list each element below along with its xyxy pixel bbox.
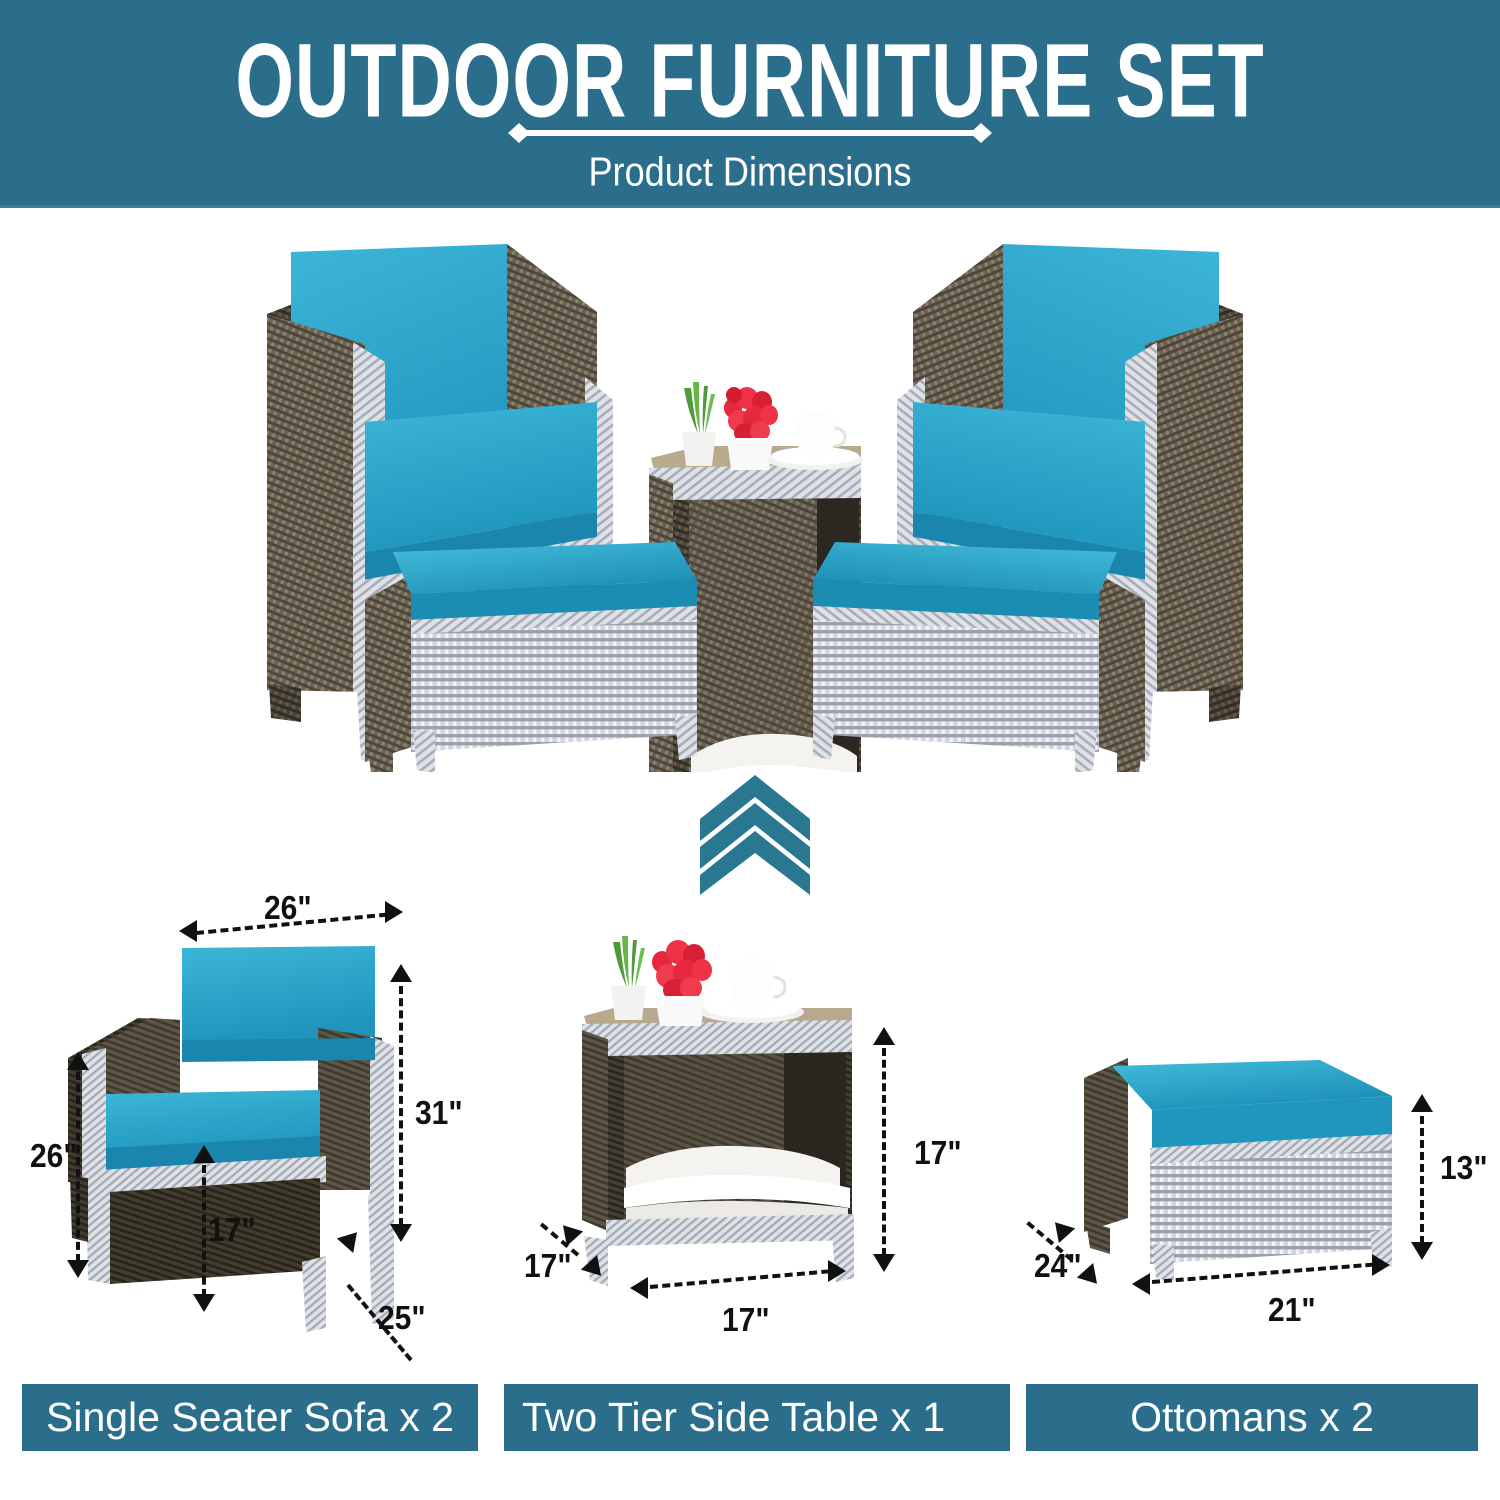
ottoman-line-image xyxy=(1000,1030,1490,1340)
spec-panel-ottoman: 13" 24" 21" xyxy=(1000,1030,1490,1340)
dim-arrow-sofa-width-left xyxy=(179,920,197,942)
hero-ottoman-left xyxy=(365,542,697,772)
double-diamond-rule-icon xyxy=(505,122,995,144)
dim-line-sofa-back-height xyxy=(76,1072,80,1262)
dim-line-table-height xyxy=(882,1048,886,1256)
dim-arrow-ottoman-width-left xyxy=(1132,1273,1150,1295)
dim-arrow-table-width-right xyxy=(828,1260,846,1282)
hero-ottoman-right xyxy=(813,542,1145,772)
dim-arrow-sofa-height-bottom xyxy=(390,1224,412,1242)
dim-label-ottoman-height: 13" xyxy=(1440,1150,1488,1188)
caption-single-seater-sofa: Single Seater Sofa x 2 xyxy=(22,1384,478,1451)
dim-label-ottoman-width: 21" xyxy=(1268,1292,1316,1330)
dim-label-sofa-back-height: 26" xyxy=(30,1138,78,1176)
dim-label-table-width: 17" xyxy=(722,1302,770,1340)
dim-arrow-sofa-seat-bottom xyxy=(193,1294,215,1312)
caption-text: Ottomans x 2 xyxy=(1026,1394,1478,1441)
dim-line-ottoman-height xyxy=(1420,1116,1424,1244)
dim-arrow-ottoman-height-bottom xyxy=(1411,1242,1433,1260)
dim-arrow-sofa-seat-top xyxy=(193,1145,215,1163)
caption-text: Two Tier Side Table x 1 xyxy=(522,1394,1010,1441)
dim-arrow-ottoman-width-right xyxy=(1372,1254,1390,1276)
dim-arrow-ottoman-height-top xyxy=(1411,1094,1433,1112)
hero-product-image xyxy=(245,222,1265,772)
dim-label-table-height: 17" xyxy=(914,1135,962,1173)
caption-ottoman: Ottomans x 2 xyxy=(1026,1384,1478,1451)
triple-chevron-up-icon xyxy=(700,775,810,895)
dim-label-sofa-seat-height: 17" xyxy=(208,1212,256,1250)
spec-panel-two-tier-side-table: 17" 17" 17" xyxy=(500,920,990,1340)
caption-two-tier-side-table: Two Tier Side Table x 1 xyxy=(504,1384,1010,1451)
dim-arrow-sofa-back-top xyxy=(67,1052,89,1070)
dim-line-sofa-seat-height xyxy=(202,1165,206,1297)
spec-panel-single-seater-sofa: 26" 31" 26" 17" 25" xyxy=(30,890,500,1340)
dim-label-sofa-height: 31" xyxy=(415,1095,463,1133)
dim-arrow-table-width-left xyxy=(630,1277,648,1299)
dim-label-ottoman-depth: 24" xyxy=(1034,1248,1082,1286)
caption-text: Single Seater Sofa x 2 xyxy=(46,1394,478,1441)
infographic-page: OUTDOOR FURNITURE SET Product Dimensions xyxy=(0,0,1500,1500)
dim-arrow-sofa-width-right xyxy=(385,901,403,923)
dim-arrow-table-height-top xyxy=(873,1027,895,1045)
dim-label-table-depth: 17" xyxy=(524,1248,572,1286)
header-banner: OUTDOOR FURNITURE SET Product Dimensions xyxy=(0,0,1500,208)
page-subtitle: Product Dimensions xyxy=(38,150,1463,196)
dim-line-sofa-height xyxy=(399,986,403,1226)
dim-arrow-sofa-back-bottom xyxy=(67,1260,89,1278)
dim-arrow-table-height-bottom xyxy=(873,1254,895,1272)
dim-arrow-sofa-height-top xyxy=(390,964,412,982)
